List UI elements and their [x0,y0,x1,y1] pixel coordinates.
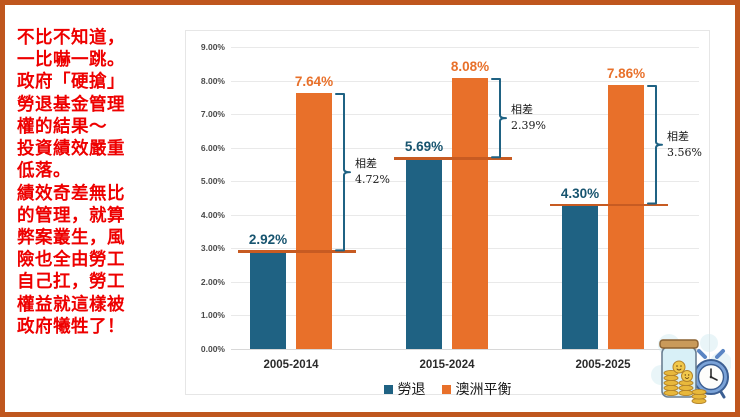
bar-勞退-2005-2014[interactable] [250,251,286,349]
gridline-9.00% [231,47,699,48]
y-axis-tick-label: 0.00% [201,344,225,354]
x-axis-label-2005-2014: 2005-2014 [264,359,319,371]
y-axis-tick-label: 4.00% [201,210,225,220]
difference-label-2005-2025: 相差 3.56% [667,129,702,161]
chart-plot-area: 0.00%1.00%2.00%3.00%4.00%5.00%6.00%7.00%… [231,47,699,349]
value-label-勞退-2015-2024: 5.69% [405,139,443,154]
y-axis-tick-label: 9.00% [201,42,225,52]
y-axis-tick-label: 5.00% [201,176,225,186]
y-axis-tick-label: 8.00% [201,76,225,86]
legend-item-1[interactable]: 澳洲平衡 [442,379,512,399]
bar-澳洲平衡-2015-2024[interactable] [452,78,488,349]
difference-brace-2015-2024 [491,78,507,158]
legend-label-0: 勞退 [398,379,426,399]
chart-legend: 勞退 澳洲平衡 [186,379,709,399]
chart-panel: 0.00%1.00%2.00%3.00%4.00%5.00%6.00%7.00%… [185,30,710,395]
commentary-text: 不比不知道， 一比嚇一跳。 政府「硬搶」 勞退基金管理 權的結果～ 投資績效嚴重… [17,27,177,338]
difference-brace-2005-2014 [335,93,351,251]
difference-label-2015-2024: 相差 2.39% [511,102,546,134]
value-label-澳洲平衡-2005-2025: 7.86% [607,66,645,81]
legend-label-1: 澳洲平衡 [456,379,512,399]
legend-swatch-icon-0 [384,385,393,394]
bar-澳洲平衡-2005-2014[interactable] [296,93,332,349]
difference-label-2005-2014: 相差 4.72% [355,156,390,188]
x-axis-label-2015-2024: 2015-2024 [420,359,475,371]
value-label-勞退-2005-2025: 4.30% [561,186,599,201]
x-axis-label-2005-2025: 2005-2025 [576,359,631,371]
bar-勞退-2015-2024[interactable] [406,158,442,349]
bar-澳洲平衡-2005-2025[interactable] [608,85,644,349]
y-axis-tick-label: 2.00% [201,277,225,287]
legend-swatch-icon-1 [442,385,451,394]
y-axis-tick-label: 7.00% [201,109,225,119]
difference-brace-2005-2025 [647,85,663,204]
y-axis-tick-label: 6.00% [201,143,225,153]
value-label-澳洲平衡-2005-2014: 7.64% [295,74,333,89]
slide-canvas: 不比不知道， 一比嚇一跳。 政府「硬搶」 勞退基金管理 權的結果～ 投資績效嚴重… [0,0,740,417]
legend-item-0[interactable]: 勞退 [384,379,426,399]
y-axis-tick-label: 1.00% [201,310,225,320]
value-label-澳洲平衡-2015-2024: 8.08% [451,59,489,74]
gridline-0.00% [231,349,699,350]
bar-勞退-2005-2025[interactable] [562,205,598,349]
y-axis-tick-label: 3.00% [201,243,225,253]
value-label-勞退-2005-2014: 2.92% [249,232,287,247]
money-jar-clipart [649,329,731,409]
